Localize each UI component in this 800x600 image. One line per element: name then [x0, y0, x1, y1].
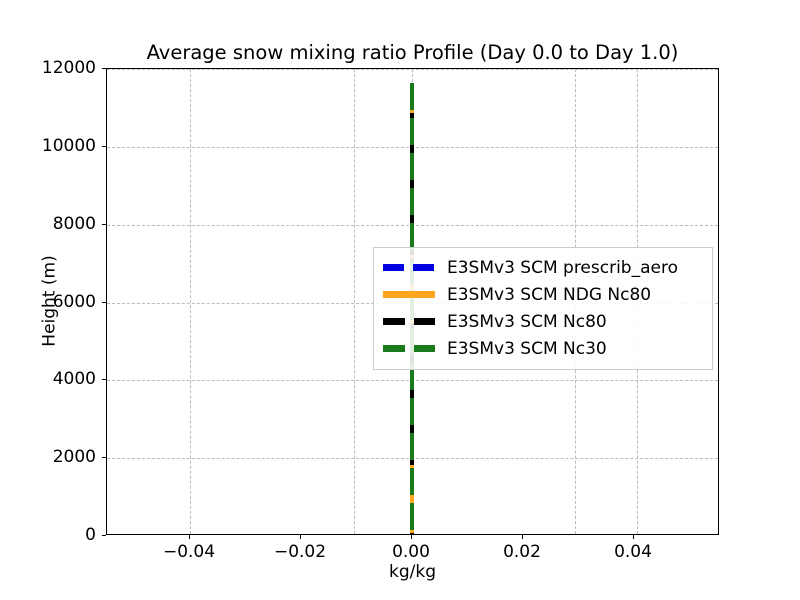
chart-figure: Average snow mixing ratio Profile (Day 0… — [0, 0, 800, 600]
ytick-mark — [102, 224, 106, 225]
gridline-vertical — [354, 69, 355, 534]
ytick-label: 4000 — [0, 369, 96, 389]
legend-swatch-nc30 — [383, 345, 435, 352]
legend-item[interactable]: E3SMv3 SCM NDG Nc80 — [383, 281, 703, 308]
ytick-label: 12000 — [0, 58, 96, 78]
legend-swatch-prescrib-aero — [383, 264, 435, 271]
xtick-label: 0.02 — [503, 542, 541, 562]
ytick-label: 8000 — [0, 214, 96, 234]
gridline-horizontal — [107, 69, 718, 70]
ytick-mark — [102, 457, 106, 458]
legend-item[interactable]: E3SMv3 SCM Nc80 — [383, 308, 703, 335]
legend-swatch-nc80 — [383, 318, 435, 325]
xtick-label: 0.00 — [392, 542, 430, 562]
xtick-mark — [189, 535, 190, 539]
gridline-vertical — [190, 69, 191, 534]
xtick-label: −0.02 — [274, 542, 326, 562]
xtick-mark — [522, 535, 523, 539]
xtick-mark — [633, 535, 634, 539]
legend-item[interactable]: E3SMv3 SCM Nc30 — [383, 335, 703, 362]
xtick-label: 0.04 — [614, 542, 652, 562]
chart-title: Average snow mixing ratio Profile (Day 0… — [106, 41, 719, 64]
chart-legend: E3SMv3 SCM prescrib_aero E3SMv3 SCM NDG … — [373, 247, 713, 370]
xtick-label: −0.04 — [163, 542, 215, 562]
x-axis-label: kg/kg — [106, 562, 719, 582]
legend-label: E3SMv3 SCM NDG Nc80 — [447, 285, 651, 305]
xtick-mark — [411, 535, 412, 539]
legend-swatch-ndg-nc80 — [383, 291, 435, 298]
ytick-mark — [102, 535, 106, 536]
ytick-mark — [102, 68, 106, 69]
xtick-mark — [300, 535, 301, 539]
ytick-label: 2000 — [0, 447, 96, 467]
ytick-mark — [102, 379, 106, 380]
legend-label: E3SMv3 SCM Nc80 — [447, 312, 607, 332]
ytick-mark — [102, 146, 106, 147]
ytick-label: 10000 — [0, 136, 96, 156]
ytick-label: 0 — [0, 525, 96, 545]
y-axis-label: Height (m) — [40, 255, 60, 346]
ytick-mark — [102, 302, 106, 303]
legend-item[interactable]: E3SMv3 SCM prescrib_aero — [383, 254, 703, 281]
legend-label: E3SMv3 SCM Nc30 — [447, 339, 607, 359]
legend-label: E3SMv3 SCM prescrib_aero — [447, 258, 678, 278]
